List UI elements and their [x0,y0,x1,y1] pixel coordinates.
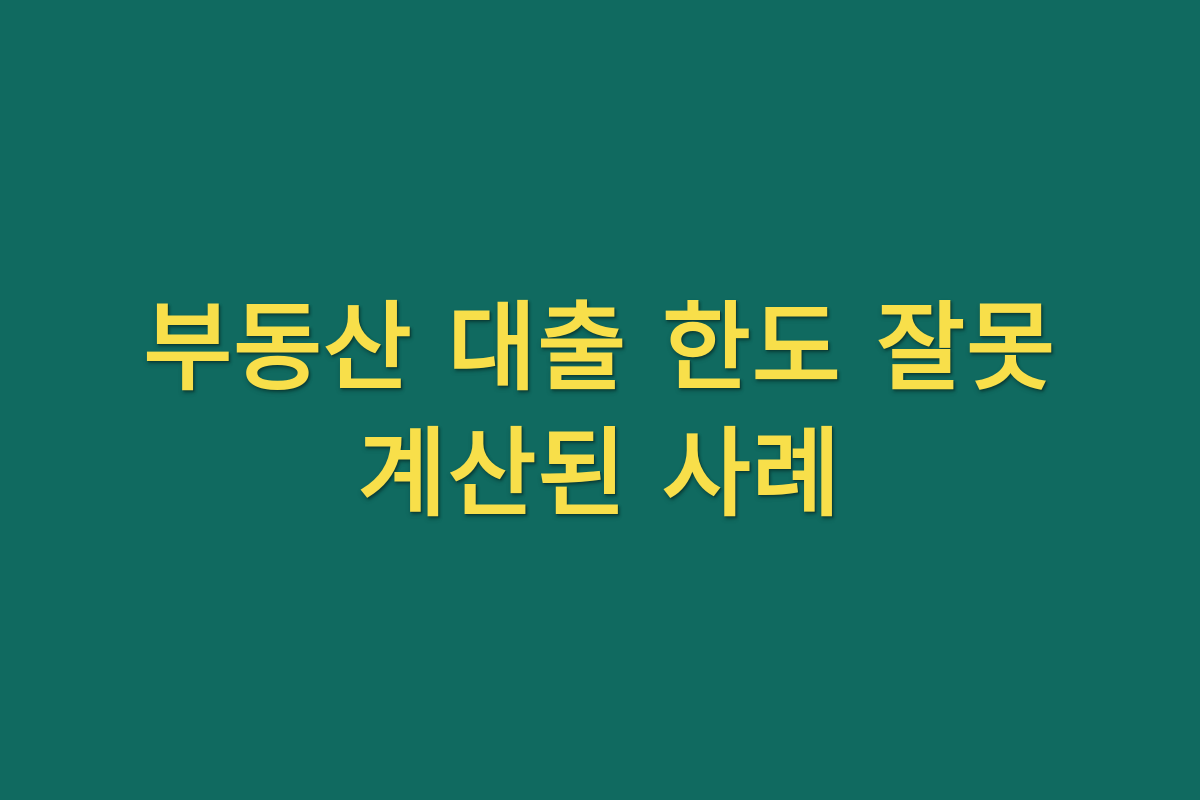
text-banner: 부동산 대출 한도 잘못 계산된 사례 [0,0,1200,800]
headline-line-2: 계산된 사례 [40,408,1160,540]
headline-line-1: 부동산 대출 한도 잘못 [40,282,1160,414]
headline-block: 부동산 대출 한도 잘못 계산된 사례 [0,282,1200,541]
